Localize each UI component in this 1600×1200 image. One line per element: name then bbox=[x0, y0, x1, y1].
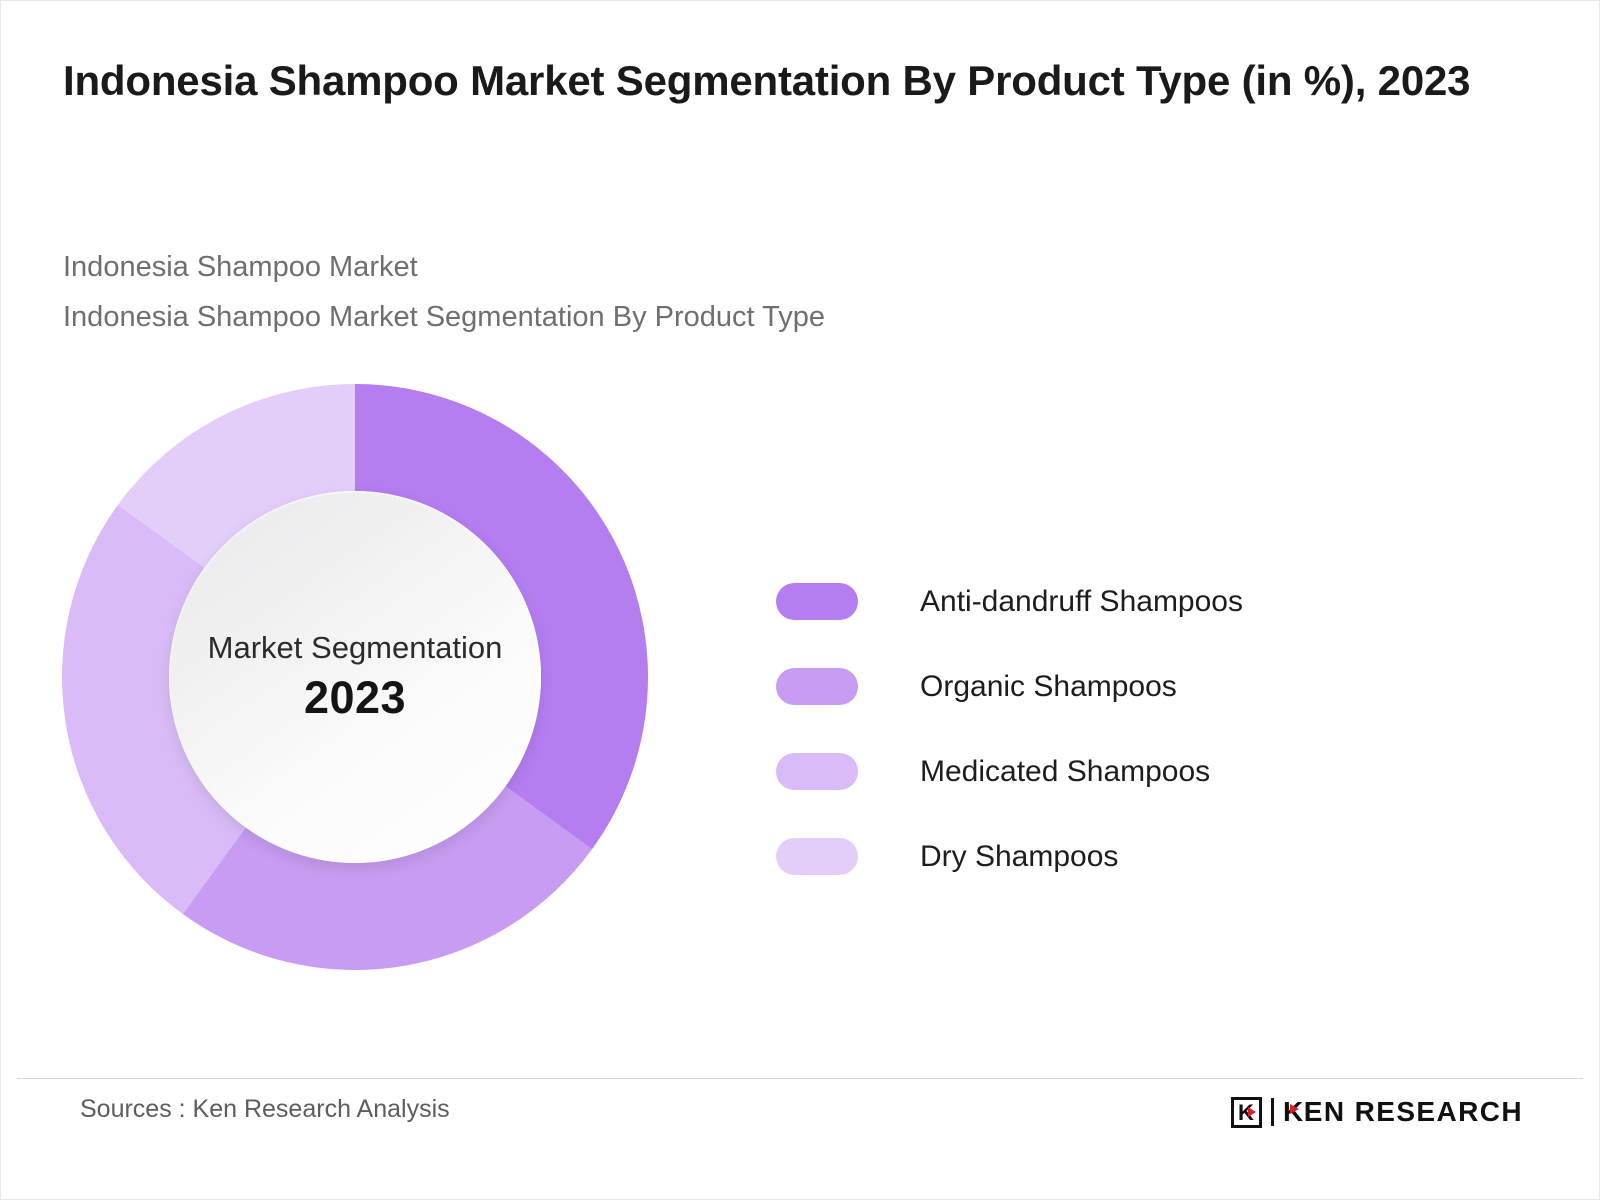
chart-page: Indonesia Shampoo Market Segmentation By… bbox=[0, 0, 1600, 1200]
legend-swatch-icon bbox=[776, 583, 858, 620]
ken-research-logo: K K EN RESEARCH bbox=[1231, 1095, 1523, 1129]
legend-label: Medicated Shampoos bbox=[920, 755, 1210, 789]
ken-logo-word-rest: EN RESEARCH bbox=[1304, 1096, 1523, 1128]
ken-logo-triangle-icon bbox=[1248, 1107, 1256, 1117]
chart-legend: Anti-dandruff Shampoos Organic Shampoos … bbox=[776, 559, 1416, 899]
footer-sources: Sources : Ken Research Analysis bbox=[80, 1095, 450, 1124]
chart-area: Market Segmentation 2023 bbox=[1, 1, 721, 1031]
legend-item-organic-shampoos[interactable]: Organic Shampoos bbox=[776, 644, 1416, 729]
legend-swatch-icon bbox=[776, 668, 858, 705]
ken-logo-mark-icon: K bbox=[1231, 1097, 1262, 1128]
legend-item-anti-dandruff-shampoos[interactable]: Anti-dandruff Shampoos bbox=[776, 559, 1416, 644]
ken-logo-word-k: K bbox=[1283, 1096, 1304, 1128]
donut-center-label: Market Segmentation bbox=[208, 631, 503, 665]
legend-item-medicated-shampoos[interactable]: Medicated Shampoos bbox=[776, 729, 1416, 814]
donut-center-value: 2023 bbox=[304, 673, 406, 723]
footer-divider bbox=[17, 1078, 1583, 1079]
legend-label: Anti-dandruff Shampoos bbox=[920, 585, 1243, 619]
legend-label: Dry Shampoos bbox=[920, 840, 1118, 874]
legend-swatch-icon bbox=[776, 838, 858, 875]
ken-logo-divider-icon bbox=[1271, 1098, 1274, 1126]
legend-swatch-icon bbox=[776, 753, 858, 790]
ken-logo-wordmark: K EN RESEARCH bbox=[1283, 1096, 1523, 1128]
donut-center-hub: Market Segmentation 2023 bbox=[169, 491, 541, 863]
donut-chart: Market Segmentation 2023 bbox=[62, 384, 648, 970]
legend-item-dry-shampoos[interactable]: Dry Shampoos bbox=[776, 814, 1416, 899]
legend-label: Organic Shampoos bbox=[920, 670, 1177, 704]
